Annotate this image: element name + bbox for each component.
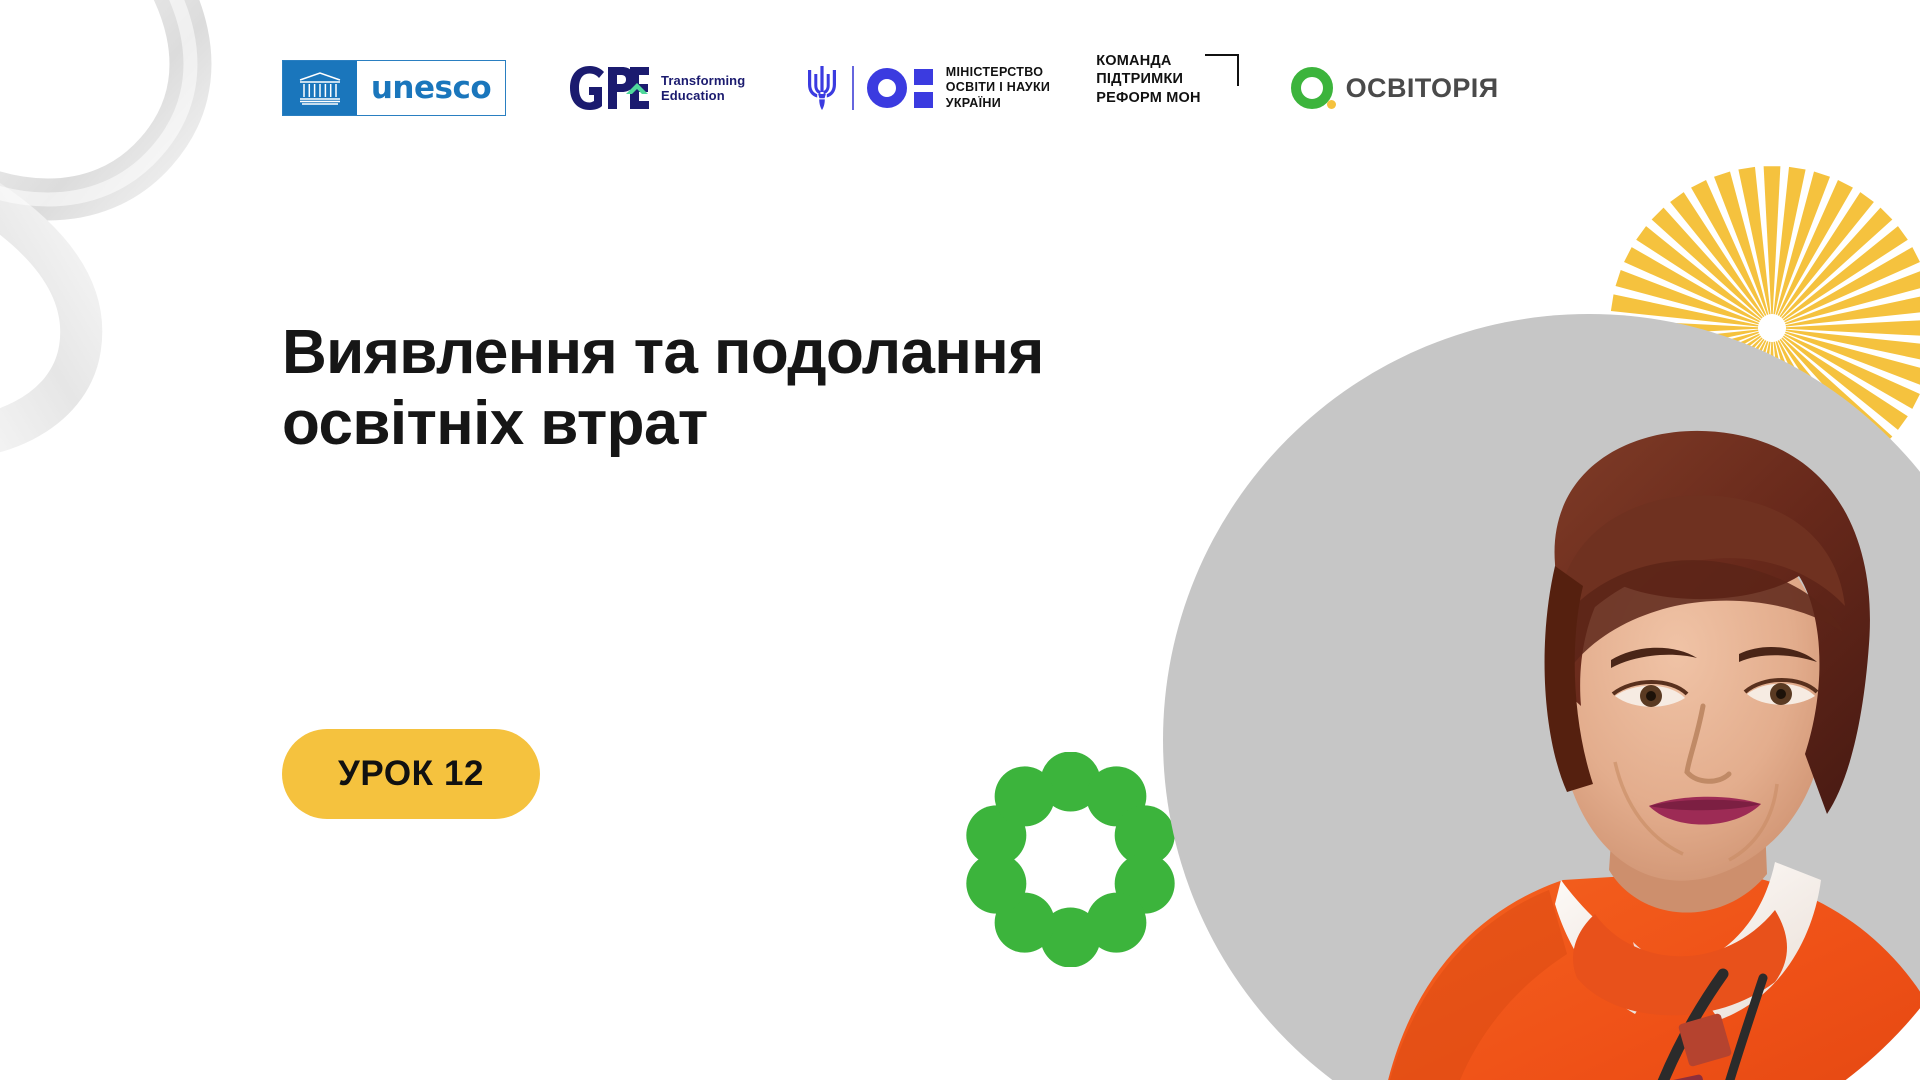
mon-text: МІНІСТЕРСТВО ОСВІТИ І НАУКИ УКРАЇНИ <box>946 65 1050 112</box>
presentation-slide: unesco Transforming Education <box>0 0 1920 1080</box>
gpe-tagline-line2: Education <box>661 88 745 103</box>
gpe-mark-icon <box>568 63 650 113</box>
mon-divider <box>852 66 854 110</box>
reform-bracket-icon <box>1205 54 1239 86</box>
lesson-badge[interactable]: УРОК 12 <box>282 729 540 819</box>
slide-title: Виявлення та подолання освітніх втрат <box>282 318 1182 459</box>
ukraine-tryzub-icon <box>805 64 839 112</box>
slide-title-line1: Виявлення та подолання <box>282 318 1182 389</box>
mon-text-line3: УКРАЇНИ <box>946 96 1050 112</box>
mon-text-line1: МІНІСТЕРСТВО <box>946 65 1050 81</box>
osvitoria-dot-icon <box>1327 100 1336 109</box>
osvitoria-wordmark-text: ОСВІТОРІЯ <box>1346 73 1499 104</box>
unesco-wordmark-text: unesco <box>371 70 491 106</box>
logo-unesco: unesco <box>282 52 506 124</box>
reform-team-text: КОМАНДА ПІДТРИМКИ РЕФОРМ МОН <box>1096 52 1200 107</box>
reform-line2: ПІДТРИМКИ <box>1096 70 1200 88</box>
logo-reform-team: КОМАНДА ПІДТРИМКИ РЕФОРМ МОН <box>1096 52 1238 124</box>
slide-title-line2: освітніх втрат <box>282 389 1182 460</box>
reform-line1: КОМАНДА <box>1096 52 1200 70</box>
unesco-wordmark: unesco <box>357 61 505 115</box>
mon-text-line2: ОСВІТИ І НАУКИ <box>946 80 1050 96</box>
reform-line3: РЕФОРМ МОН <box>1096 89 1200 107</box>
unesco-temple-icon <box>283 61 357 115</box>
logo-gpe: Transforming Education <box>568 52 745 124</box>
gpe-tagline-line1: Transforming <box>661 73 745 88</box>
lesson-badge-label: УРОК 12 <box>338 754 484 794</box>
logo-osvitoria: ОСВІТОРІЯ <box>1291 52 1499 124</box>
logo-mon: МІНІСТЕРСТВО ОСВІТИ І НАУКИ УКРАЇНИ <box>805 52 1050 124</box>
partner-logo-bar: unesco Transforming Education <box>282 52 1499 124</box>
osvitoria-ring-icon <box>1291 67 1333 109</box>
green-dot-ring-decoration <box>963 752 1178 967</box>
mon-symbol-icon <box>867 68 933 108</box>
portrait-disc-background <box>1163 314 1920 1080</box>
gpe-tagline: Transforming Education <box>661 73 745 104</box>
